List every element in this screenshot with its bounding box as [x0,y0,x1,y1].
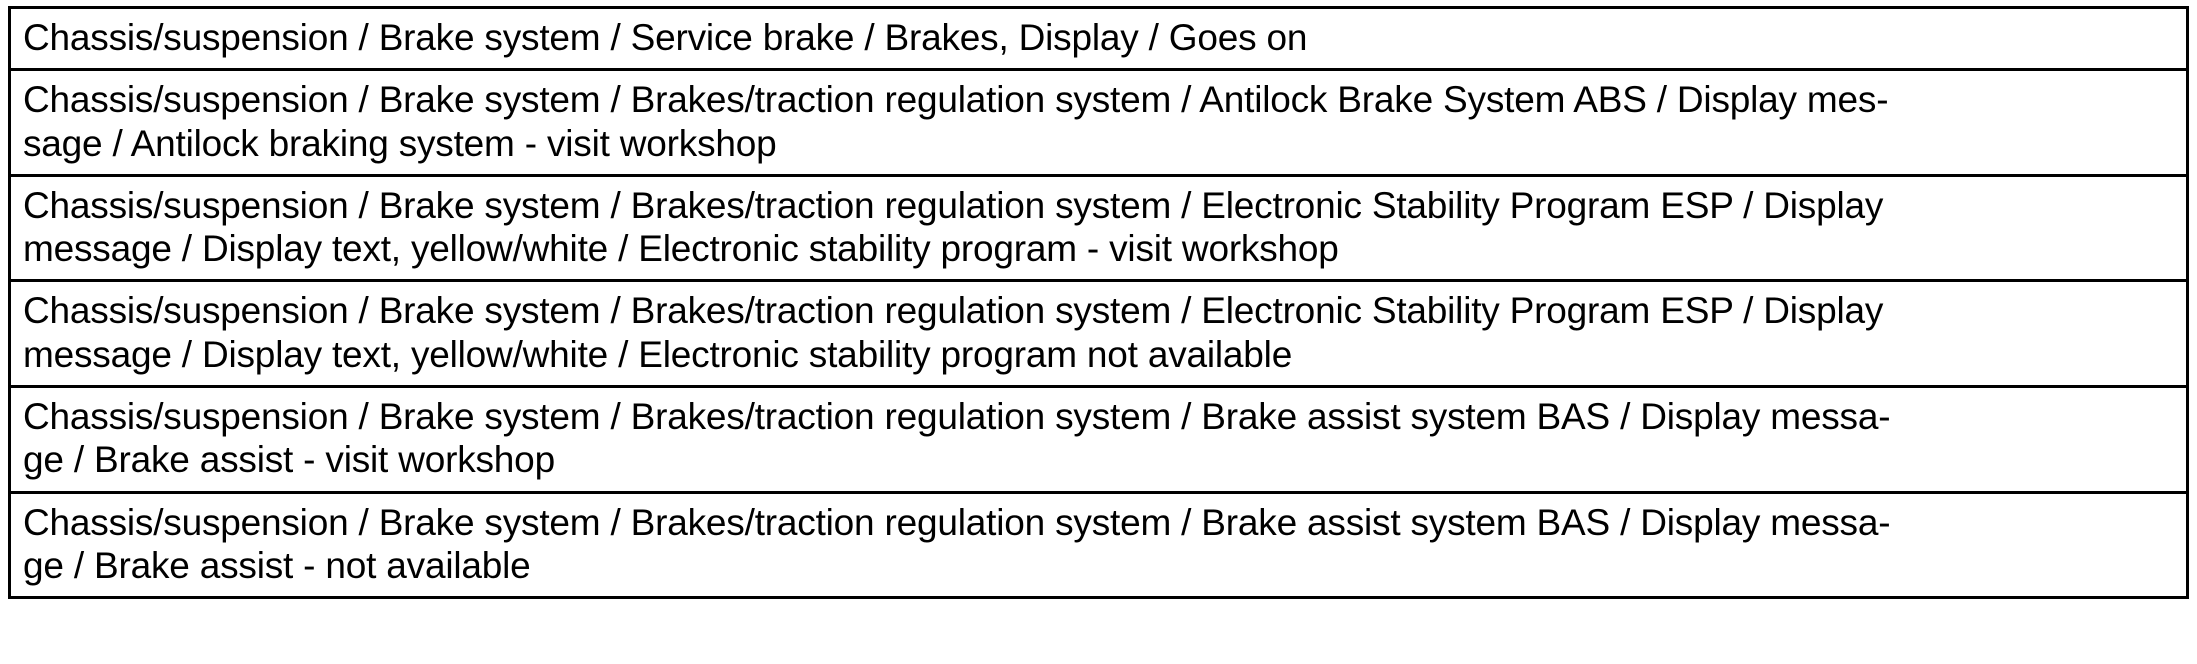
diagnostic-path-text: Chassis/suspension / Brake system / Brak… [10,281,2188,387]
table-row: Chassis/suspension / Brake system / Brak… [10,281,2188,387]
diagnostic-path-text: Chassis/suspension / Brake system / Brak… [10,70,2188,176]
fault-path-table-body: Chassis/suspension / Brake system / Serv… [10,8,2188,598]
table-row: Chassis/suspension / Brake system / Brak… [10,70,2188,176]
table-row: Chassis/suspension / Brake system / Brak… [10,175,2188,281]
fault-path-table: Chassis/suspension / Brake system / Serv… [8,6,2189,599]
diagnostic-path-text: Chassis/suspension / Brake system / Serv… [10,8,2188,70]
table-row: Chassis/suspension / Brake system / Brak… [10,386,2188,492]
diagnostic-path-text: Chassis/suspension / Brake system / Brak… [10,492,2188,598]
diagnostic-path-text: Chassis/suspension / Brake system / Brak… [10,175,2188,281]
page-root: Chassis/suspension / Brake system / Serv… [0,0,2197,664]
table-row: Chassis/suspension / Brake system / Serv… [10,8,2188,70]
table-row: Chassis/suspension / Brake system / Brak… [10,492,2188,598]
diagnostic-path-text: Chassis/suspension / Brake system / Brak… [10,386,2188,492]
